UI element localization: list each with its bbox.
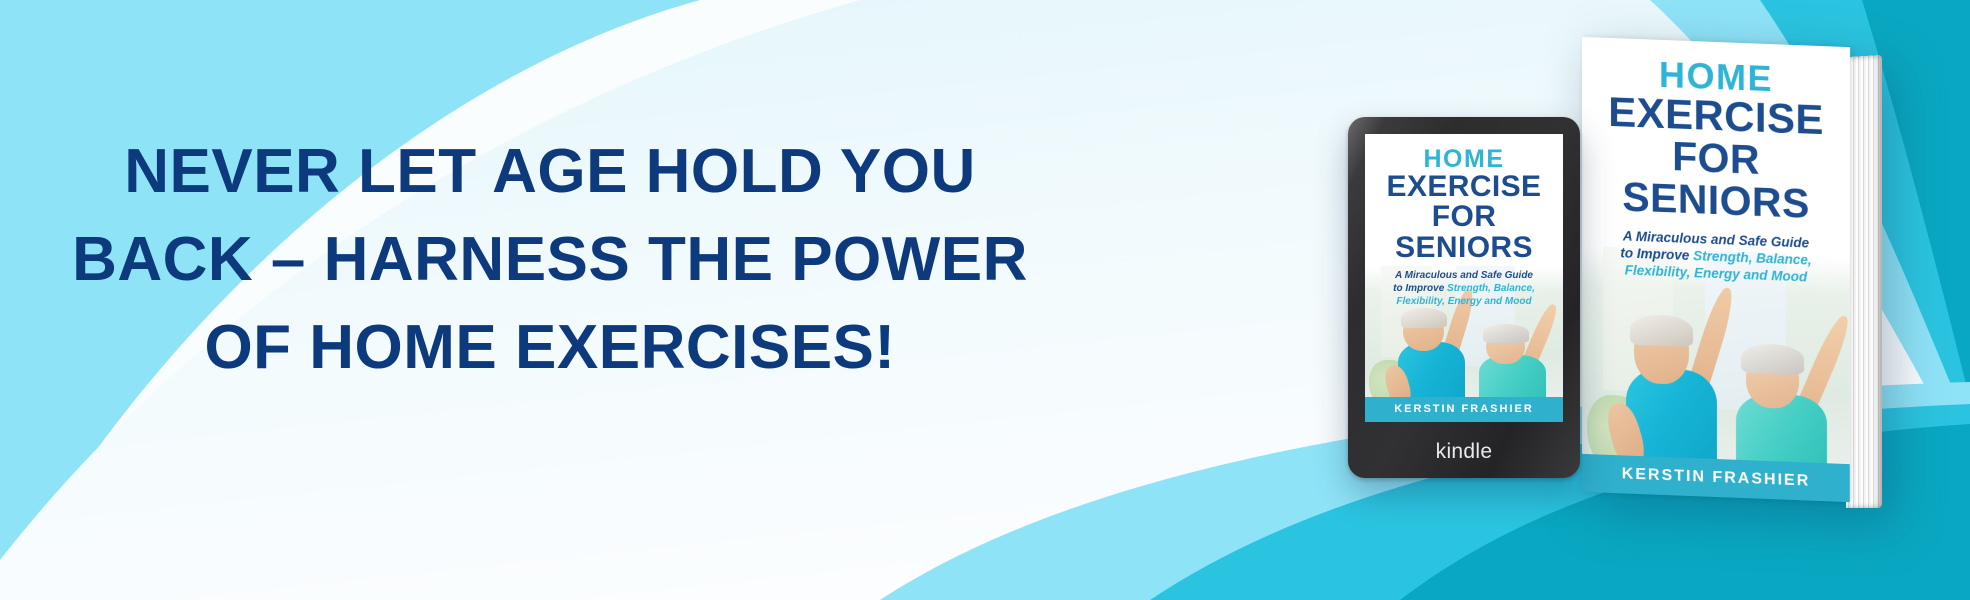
headline: NEVER LET AGE HOLD YOU BACK – HARNESS TH…	[0, 128, 1100, 392]
print-man-hair	[1630, 314, 1693, 347]
print-subtitle-line-2-plain: to Improve	[1620, 245, 1693, 263]
print-cover-title: HOME EXERCISE FOR SENIORS	[1582, 37, 1850, 227]
kindle-device: HOME EXERCISE FOR SENIORS A Miraculous a…	[1348, 117, 1580, 478]
cover-title-seniors: FOR SENIORS	[1365, 202, 1563, 263]
kindle-brand-logo: kindle	[1348, 440, 1580, 464]
headline-line-2: BACK – HARNESS THE POWER	[0, 216, 1100, 304]
book-page-edges	[1846, 55, 1882, 508]
print-title-seniors: FOR SENIORS	[1582, 133, 1850, 227]
print-woman-hair	[1741, 343, 1804, 374]
headline-line-1: NEVER LET AGE HOLD YOU	[0, 128, 1100, 216]
headline-line-3: OF HOME EXERCISES!	[0, 304, 1100, 392]
subtitle-line-3: Flexibility, Energy and Mood	[1365, 296, 1563, 309]
cover-title-home: HOME	[1365, 147, 1563, 172]
man-hair	[1401, 308, 1448, 328]
cover-title-exercise: EXERCISE	[1365, 172, 1563, 203]
book-front-cover: HOME EXERCISE FOR SENIORS A Miraculous a…	[1582, 37, 1850, 502]
ebook-cover: HOME EXERCISE FOR SENIORS A Miraculous a…	[1365, 134, 1563, 422]
ebook-cover-title: HOME EXERCISE FOR SENIORS	[1365, 134, 1563, 264]
ebook-cover-subtitle: A Miraculous and Safe Guide to Improve S…	[1365, 270, 1563, 308]
print-cover: HOME EXERCISE FOR SENIORS A Miraculous a…	[1582, 37, 1850, 502]
ebook-author-band: KERSTIN FRASHIER	[1365, 397, 1563, 422]
subtitle-line-1: A Miraculous and Safe Guide	[1365, 270, 1563, 283]
subtitle-line-2-plain: to Improve	[1393, 283, 1447, 294]
kindle-screen: HOME EXERCISE FOR SENIORS A Miraculous a…	[1365, 134, 1563, 422]
subtitle-line-2: to Improve Strength, Balance,	[1365, 283, 1563, 296]
subtitle-line-2-highlight: Strength, Balance,	[1447, 283, 1535, 294]
woman-hair	[1483, 324, 1530, 342]
print-cover-subtitle: A Miraculous and Safe Guide to Improve S…	[1582, 226, 1850, 288]
promo-banner: NEVER LET AGE HOLD YOU BACK – HARNESS TH…	[0, 0, 1970, 600]
printed-book: HOME EXERCISE FOR SENIORS A Miraculous a…	[1582, 42, 1882, 512]
